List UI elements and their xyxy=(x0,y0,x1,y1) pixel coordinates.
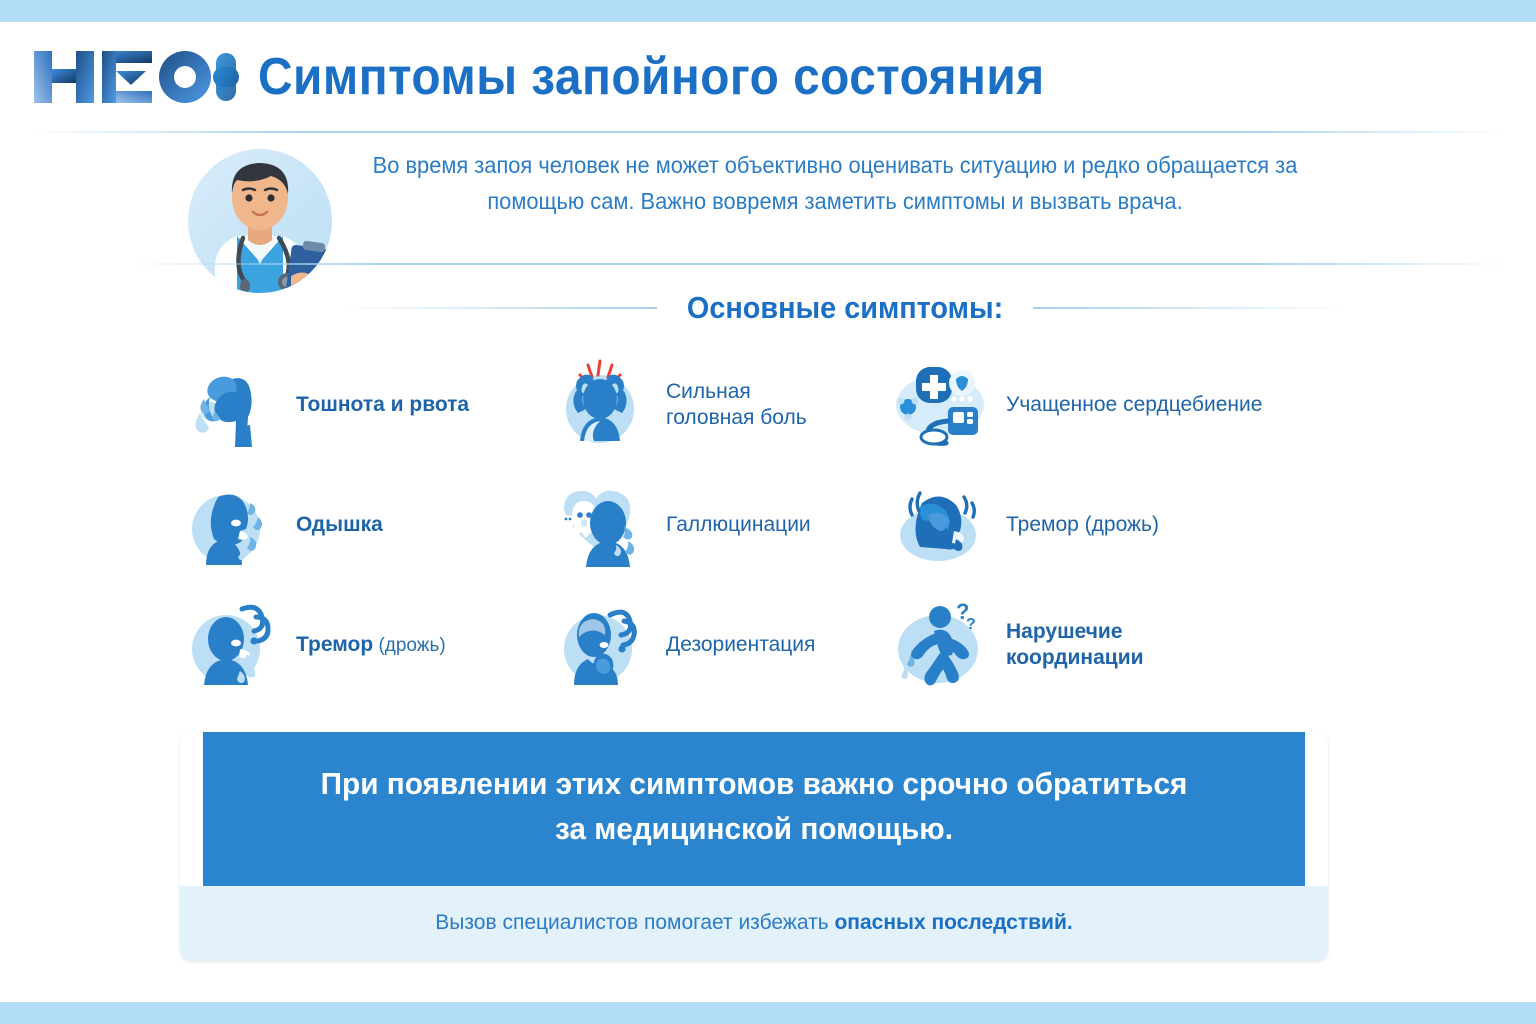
callout-main-line-1: При появлении этих симптомов важно срочн… xyxy=(241,762,1266,807)
callout-sub-highlight: опасных последствий. xyxy=(834,911,1072,934)
bottom-accent-band xyxy=(0,1002,1536,1024)
symptoms-grid: Тошнота и рвота xyxy=(180,345,1350,705)
symptom-label: Галлюцинации xyxy=(666,512,811,538)
callout-sub-prefix: Вызов специалистов помогает избежать xyxy=(435,911,834,934)
hallucination-ghost-icon xyxy=(550,473,654,577)
symptom-label-line-2: координации xyxy=(1006,645,1144,671)
vomiting-person-icon xyxy=(180,353,284,457)
header-divider xyxy=(30,131,1506,133)
page-title: Симптомы запойного состояния xyxy=(258,51,1045,103)
doctor-avatar-icon xyxy=(175,136,345,306)
symptom-label: Тремор (дрожь) xyxy=(1006,512,1159,538)
callout-sub-text: Вызов специалистов помогает избежать опа… xyxy=(180,886,1328,961)
symptom-label: Одышка xyxy=(296,512,383,538)
tremor-shaking-icon xyxy=(180,593,284,697)
symptom-item: Сильная головная боль xyxy=(550,353,890,457)
symptom-item: Галлюцинации xyxy=(550,473,890,577)
tremor-head-hands-icon xyxy=(890,473,994,577)
symptom-label-suffix: (дрожь) xyxy=(373,635,446,656)
symptom-item: Тошнота и рвота xyxy=(180,353,550,457)
symptom-label-line-1: Нарушечие xyxy=(1006,619,1144,645)
symptom-item: Учащенное сердцебиение xyxy=(890,353,1350,457)
symptom-label: Тошнота и рвота xyxy=(296,392,469,418)
symptom-item: Дезориентация xyxy=(550,593,890,697)
section-header: Основные симптомы: xyxy=(340,290,1350,326)
symptom-label-line-2: головная боль xyxy=(666,405,807,431)
page-header: Симптомы запойного состояния xyxy=(0,22,1536,132)
symptom-label: Нарушечие координации xyxy=(1006,619,1144,672)
disorientation-thinking-icon xyxy=(550,593,654,697)
symptom-label-line-1: Сильная xyxy=(666,379,807,405)
heart-monitor-icon xyxy=(890,353,994,457)
symptom-item: Тремор (дрожь) xyxy=(890,473,1350,577)
callout-main-text: При появлении этих симптомов важно срочн… xyxy=(203,732,1305,886)
symptom-item: Тремор (дрожь) xyxy=(180,593,550,697)
symptom-label: Сильная головная боль xyxy=(666,379,807,432)
symptom-label: Тремор (дрожь) xyxy=(296,632,446,658)
symptom-item: Одышка xyxy=(180,473,550,577)
coordination-loss-icon: ? ? xyxy=(890,593,994,697)
section-rule-left xyxy=(340,307,657,309)
symptom-label: Дезориентация xyxy=(666,632,815,658)
intro-line-1: Во время запоя человек не может объектив… xyxy=(373,152,1269,178)
section-rule-right xyxy=(1033,307,1350,309)
infographic-page: Симптомы запойного состояния xyxy=(0,0,1536,1024)
shortness-of-breath-icon xyxy=(180,473,284,577)
symptom-item: ? ? Нарушечие координации xyxy=(890,593,1350,697)
symptom-label-main: Тремор xyxy=(296,633,373,656)
callout-box: При появлении этих симптомов важно срочн… xyxy=(180,732,1328,961)
symptom-label: Учащенное сердцебиение xyxy=(1006,392,1262,418)
intro-text: Во время запоя человек не может объектив… xyxy=(346,148,1325,219)
callout-main-line-2: за медицинской помощью. xyxy=(241,807,1266,852)
intro-section: Во время запоя человек не может объектив… xyxy=(175,136,1355,261)
top-accent-band xyxy=(0,0,1536,22)
intro-divider xyxy=(130,263,1506,265)
section-title: Основные симптомы: xyxy=(687,290,1003,326)
svg-text:?: ? xyxy=(966,616,976,633)
neo-plus-logo-icon xyxy=(30,45,240,109)
headache-person-icon xyxy=(550,353,654,457)
